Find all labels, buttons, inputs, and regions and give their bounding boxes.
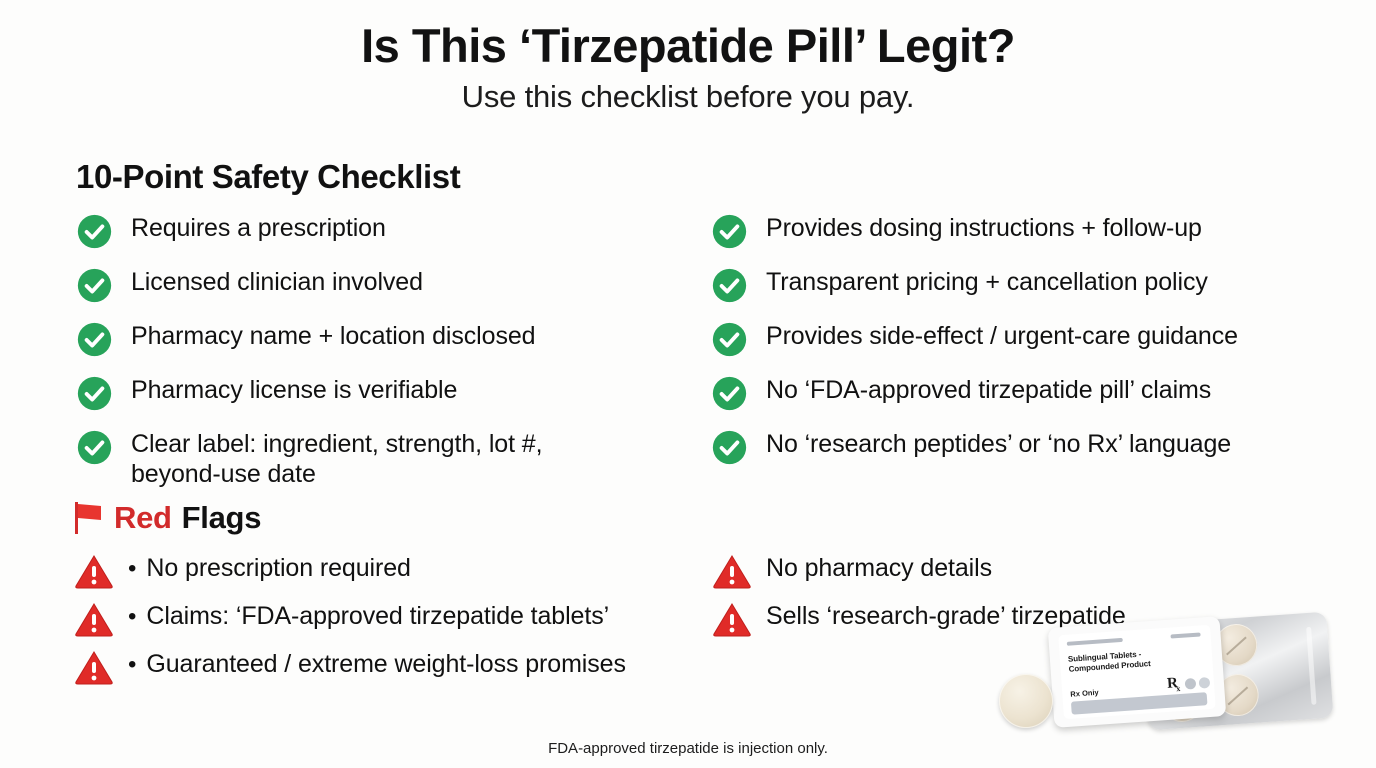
label-mini-icon bbox=[1199, 677, 1211, 689]
red-flag-item: • Claims: ‘FDA-approved tirzepatide tabl… bbox=[74, 599, 712, 639]
warning-triangle-icon bbox=[74, 649, 114, 685]
check-circle-icon bbox=[76, 375, 113, 412]
red-flag-item-label: No prescription required bbox=[146, 551, 410, 584]
warning-triangle-icon bbox=[712, 601, 752, 637]
red-flag-item: • Guaranteed / extreme weight-loss promi… bbox=[74, 647, 712, 687]
page-subtitle: Use this checklist before you pay. bbox=[0, 79, 1376, 115]
blister-seam bbox=[1306, 627, 1316, 705]
check-circle-icon bbox=[76, 213, 113, 250]
checklist-column-left: Requires a prescription Licensed clinici… bbox=[76, 212, 711, 505]
check-circle-icon bbox=[711, 321, 748, 358]
checklist-item-label: Transparent pricing + cancellation polic… bbox=[766, 266, 1208, 298]
checklist-column-right: Provides dosing instructions + follow-up… bbox=[711, 212, 1346, 505]
label-mini-icon bbox=[1185, 678, 1197, 690]
red-flag-item: • No prescription required bbox=[74, 551, 712, 591]
product-photo: Sublingual Tablets - Compounded Product … bbox=[995, 612, 1340, 742]
checklist-item-label: No ‘research peptides’ or ‘no Rx’ langua… bbox=[766, 428, 1231, 460]
warning-triangle-icon bbox=[74, 553, 114, 589]
red-flag-item-label: No pharmacy details bbox=[766, 551, 992, 584]
checklist-item: Provides side-effect / urgent-care guida… bbox=[711, 320, 1346, 358]
red-flag-item-label: Claims: ‘FDA-approved tirzepatide tablet… bbox=[146, 599, 609, 632]
checklist-item: Pharmacy license is verifiable bbox=[76, 374, 711, 412]
bullet-marker: • bbox=[128, 599, 136, 632]
label-bar bbox=[1170, 632, 1200, 638]
red-flag-item: No pharmacy details bbox=[712, 551, 1350, 591]
checklist-item-label: Pharmacy name + location disclosed bbox=[131, 320, 535, 352]
checklist-item-label: Pharmacy license is verifiable bbox=[131, 374, 457, 406]
checklist-item: No ‘research peptides’ or ‘no Rx’ langua… bbox=[711, 428, 1346, 466]
checklist-item-label: Provides side-effect / urgent-care guida… bbox=[766, 320, 1238, 352]
bullet-marker: • bbox=[128, 647, 136, 680]
check-circle-icon bbox=[711, 375, 748, 412]
infographic-page: Is This ‘Tirzepatide Pill’ Legit? Use th… bbox=[0, 0, 1376, 768]
checklist-item-label: Licensed clinician involved bbox=[131, 266, 423, 298]
checklist-item: Provides dosing instructions + follow-up bbox=[711, 212, 1346, 250]
checklist-item-label: Provides dosing instructions + follow-up bbox=[766, 212, 1202, 244]
footer-note: FDA-approved tirzepatide is injection on… bbox=[0, 740, 1376, 757]
red-flags-heading-black: Flags bbox=[182, 500, 261, 536]
loose-tablet bbox=[999, 674, 1053, 728]
rx-symbol-subscript: x bbox=[1176, 684, 1181, 693]
checklist-item: Licensed clinician involved bbox=[76, 266, 711, 304]
red-flags-column-left: • No prescription required • Claims: ‘FD… bbox=[74, 551, 712, 695]
product-label-inner: Sublingual Tablets - Compounded Product … bbox=[1058, 625, 1215, 719]
check-circle-icon bbox=[711, 267, 748, 304]
warning-triangle-icon bbox=[74, 601, 114, 637]
bullet-marker: • bbox=[128, 551, 136, 584]
check-circle-icon bbox=[76, 267, 113, 304]
red-flags-heading-red: Red bbox=[114, 500, 172, 536]
safety-checklist: Requires a prescription Licensed clinici… bbox=[76, 212, 1346, 505]
red-flags-heading: Red Flags bbox=[74, 500, 261, 536]
check-circle-icon bbox=[711, 213, 748, 250]
checklist-item-label: No ‘FDA-approved tirzepatide pill’ claim… bbox=[766, 374, 1211, 406]
warning-triangle-icon bbox=[712, 553, 752, 589]
check-circle-icon bbox=[76, 321, 113, 358]
label-product-name: Sublingual Tablets - Compounded Product bbox=[1068, 649, 1151, 675]
red-flag-icon bbox=[74, 501, 104, 535]
check-circle-icon bbox=[711, 429, 748, 466]
label-bar bbox=[1067, 638, 1123, 646]
checklist-heading: 10-Point Safety Checklist bbox=[76, 158, 460, 196]
checklist-item-label: Requires a prescription bbox=[131, 212, 386, 244]
checklist-item: Clear label: ingredient, strength, lot #… bbox=[76, 428, 711, 489]
check-circle-icon bbox=[76, 429, 113, 466]
red-flag-item-label: Guaranteed / extreme weight-loss promise… bbox=[146, 647, 625, 680]
label-rx-only: Rx Oniy bbox=[1070, 688, 1099, 699]
product-label-card: Sublingual Tablets - Compounded Product … bbox=[1048, 616, 1227, 728]
page-title: Is This ‘Tirzepatide Pill’ Legit? bbox=[0, 20, 1376, 73]
checklist-item: Pharmacy name + location disclosed bbox=[76, 320, 711, 358]
checklist-item-label: Clear label: ingredient, strength, lot #… bbox=[131, 428, 621, 489]
checklist-item: Transparent pricing + cancellation polic… bbox=[711, 266, 1346, 304]
checklist-item: No ‘FDA-approved tirzepatide pill’ claim… bbox=[711, 374, 1346, 412]
header: Is This ‘Tirzepatide Pill’ Legit? Use th… bbox=[0, 0, 1376, 115]
checklist-item: Requires a prescription bbox=[76, 212, 711, 250]
